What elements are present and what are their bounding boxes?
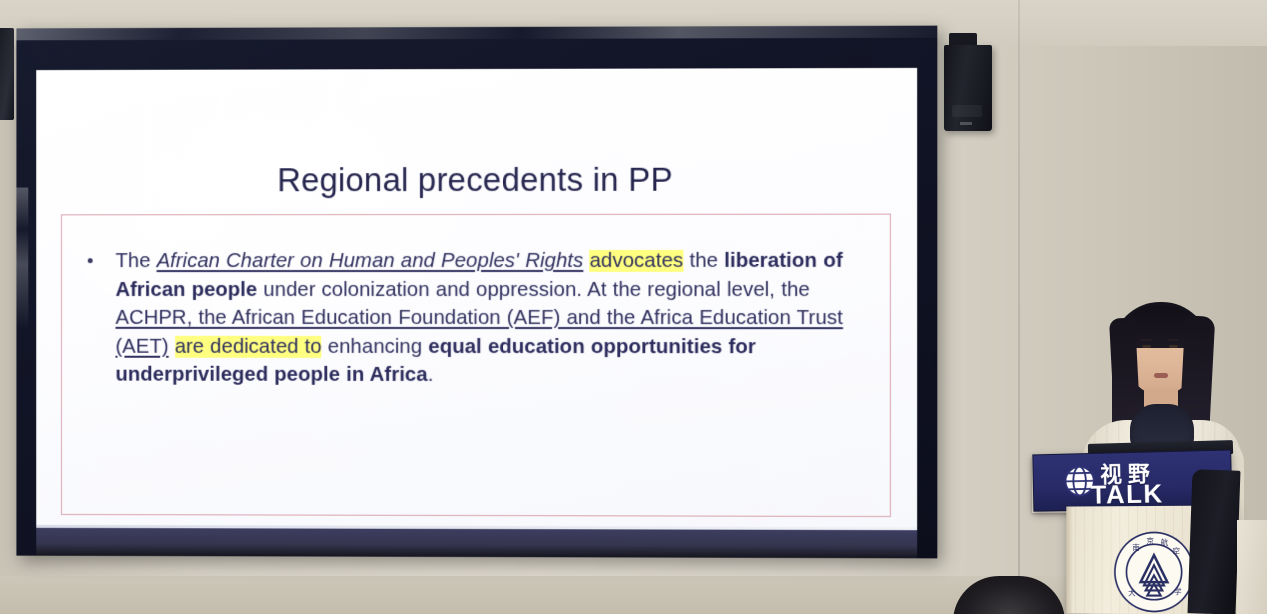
- wall-speaker-secondary: [0, 28, 14, 120]
- seg-advocates-highlight: advocates: [590, 250, 684, 272]
- wall-speaker: [944, 45, 992, 131]
- seg-period: .: [428, 364, 434, 386]
- svg-text:京: 京: [1146, 535, 1154, 545]
- presentation-scene: Regional precedents in PP The African Ch…: [0, 0, 1267, 614]
- presenter-eyebrow-left: [1140, 339, 1152, 341]
- audience-person-leg: [1188, 469, 1241, 614]
- presenter-mouth: [1154, 373, 1168, 378]
- wall-corner-seam: [1018, 0, 1020, 614]
- presenter-eye-left: [1142, 345, 1151, 348]
- projected-slide: Regional precedents in PP The African Ch…: [36, 68, 917, 530]
- svg-text:南: 南: [1132, 542, 1140, 552]
- podium-left-edge: [1066, 506, 1072, 613]
- speaker-grill: [952, 105, 982, 117]
- university-seal-icon: 南 京 航 空 大 学: [1112, 530, 1196, 614]
- speaker-label: [960, 122, 972, 125]
- seg-space-2: [169, 336, 175, 358]
- seg-enhancing: enhancing: [322, 336, 429, 358]
- presenter-eye-right: [1169, 345, 1178, 348]
- projection-screen-frame: Regional precedents in PP The African Ch…: [16, 26, 937, 559]
- bullet-dot-icon: [88, 258, 93, 263]
- bullet-item: The African Charter on Human and Peoples…: [88, 247, 882, 391]
- seg-dedicated-highlight: are dedicated to: [175, 336, 322, 358]
- slide-content-box: The African Charter on Human and Peoples…: [61, 214, 891, 517]
- frame-highlight-top: [16, 26, 937, 41]
- bullet-text: The African Charter on Human and Peoples…: [115, 247, 881, 391]
- screen-lower-band: [36, 528, 917, 558]
- svg-text:学: 学: [1174, 586, 1182, 596]
- seg-african-charter: African Charter on Human and Peoples' Ri…: [157, 250, 584, 272]
- seg-under-colonization: under colonization and oppression. At th…: [257, 279, 810, 301]
- svg-text:空: 空: [1172, 545, 1180, 555]
- room-edge-strip: [1237, 520, 1267, 614]
- seg-the: The: [115, 250, 156, 272]
- svg-text:大: 大: [1128, 587, 1136, 597]
- svg-text:航: 航: [1161, 537, 1169, 547]
- frame-highlight-left: [16, 188, 28, 327]
- presenter-eyebrow-right: [1167, 339, 1179, 341]
- slide-title: Regional precedents in PP: [36, 160, 917, 199]
- seg-the-2: the: [683, 250, 724, 272]
